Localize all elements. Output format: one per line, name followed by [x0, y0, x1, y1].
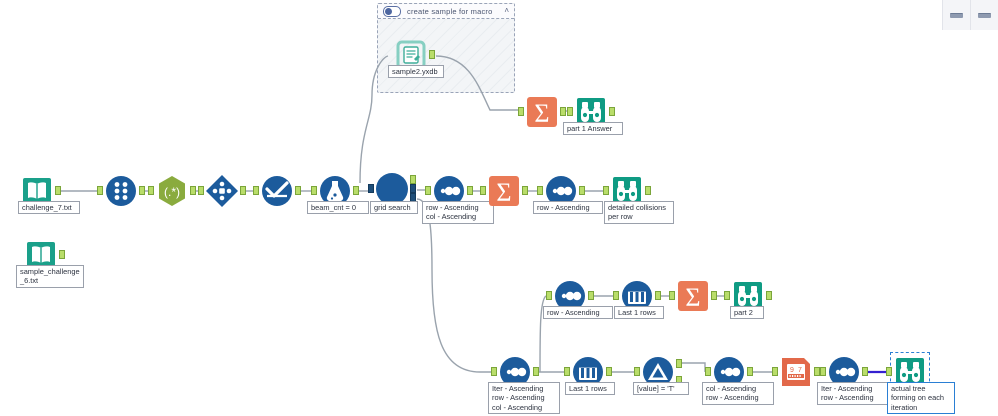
multi-row-formula-tool[interactable]	[104, 174, 138, 208]
tool-annotation-label[interactable]: Last 1 rows	[565, 382, 615, 395]
input-anchor[interactable]	[634, 367, 640, 376]
input-anchor[interactable]	[537, 186, 543, 195]
summarize-tool-main[interactable]: Σ	[487, 174, 521, 208]
output-anchor[interactable]	[609, 107, 615, 116]
tool-container-header[interactable]: create sample for macro ˄	[378, 4, 514, 19]
transpose-tool[interactable]	[205, 174, 239, 208]
input-anchor[interactable]	[311, 186, 317, 195]
chevron-up-icon[interactable]: ˄	[504, 7, 509, 15]
input-anchor[interactable]	[148, 186, 154, 195]
input-anchor[interactable]	[518, 107, 524, 116]
tool-annotation-label[interactable]: detailed collisions per row	[604, 201, 674, 224]
multi-row-formula-icon	[104, 174, 138, 208]
minimize-button[interactable]	[942, 0, 970, 30]
tool-annotation-label[interactable]: actual tree forming on each iteration	[887, 382, 955, 414]
output-anchor[interactable]	[353, 186, 359, 195]
svg-text:Σ: Σ	[496, 178, 511, 207]
output-anchor[interactable]	[55, 186, 61, 195]
window-controls[interactable]	[942, 0, 998, 46]
input-anchor[interactable]	[886, 367, 892, 376]
tool-annotation-label[interactable]: row - Ascending	[533, 201, 603, 214]
tool-annotation-label[interactable]: row - Ascending	[543, 306, 613, 319]
svg-text:Σ: Σ	[534, 99, 549, 128]
transpose-icon	[205, 174, 239, 208]
output-anchor[interactable]	[467, 186, 473, 195]
tool-annotation-label[interactable]: challenge_7.txt	[18, 201, 80, 214]
select-icon	[260, 174, 294, 208]
input-anchor[interactable]	[705, 367, 711, 376]
output-anchor[interactable]	[533, 367, 539, 376]
output-anchor[interactable]	[139, 186, 145, 195]
input-anchor[interactable]	[567, 107, 573, 116]
tool-annotation-label[interactable]: row - Ascending col - Ascending	[422, 201, 494, 224]
input-anchor[interactable]	[253, 186, 259, 195]
input-anchor[interactable]	[772, 367, 778, 376]
input-anchor[interactable]	[198, 186, 204, 195]
input-anchor[interactable]	[368, 184, 374, 193]
summarize-tool-part1[interactable]: Σ	[525, 95, 559, 129]
workflow-canvas[interactable]: create sample for macro ˄ challenge_7.tx…	[0, 0, 998, 416]
tool-annotation-label[interactable]: grid search	[370, 201, 418, 214]
input-anchor[interactable]	[97, 186, 103, 195]
tool-annotation-label[interactable]: Last 1 rows	[614, 306, 664, 319]
crosstab-tool[interactable]: 97	[779, 355, 813, 389]
input-anchor[interactable]	[724, 291, 730, 300]
input-anchor[interactable]	[491, 367, 497, 376]
tool-annotation-label[interactable]: sample_challenge _6.txt	[16, 265, 84, 288]
output-anchor[interactable]	[711, 291, 717, 300]
input-anchor[interactable]	[564, 367, 570, 376]
output-anchor[interactable]	[747, 367, 753, 376]
connection-wire[interactable]	[417, 199, 492, 372]
connection-wire[interactable]	[682, 363, 705, 372]
crosstab-icon: 97	[779, 355, 813, 389]
tool-container-title: create sample for macro	[407, 7, 492, 16]
tool-annotation-label[interactable]: part 2	[730, 306, 764, 319]
output-anchor[interactable]	[59, 250, 65, 259]
output-anchor[interactable]	[522, 186, 528, 195]
input-anchor[interactable]	[425, 186, 431, 195]
output-anchor[interactable]	[429, 50, 435, 59]
svg-text:Σ: Σ	[685, 283, 700, 312]
output-anchor[interactable]	[862, 367, 868, 376]
minimize-icon	[950, 13, 963, 18]
output-anchor[interactable]	[560, 107, 566, 116]
output-anchor[interactable]	[240, 186, 246, 195]
output-anchor[interactable]	[606, 367, 612, 376]
true-anchor[interactable]	[676, 359, 682, 368]
regex-icon: (.*)	[155, 174, 189, 208]
svg-text:9: 9	[790, 367, 794, 374]
summarize-icon: Σ	[525, 95, 559, 129]
tool-annotation-label[interactable]: col - Ascending row - Ascending	[702, 382, 774, 405]
tool-annotation-label[interactable]: Iter - Ascending row - Ascending	[817, 382, 889, 405]
input-anchor[interactable]	[613, 291, 619, 300]
summarize-icon: Σ	[676, 279, 710, 313]
input-anchor[interactable]	[820, 367, 826, 376]
input-anchor[interactable]	[669, 291, 675, 300]
tool-annotation-label[interactable]: Iter - Ascending row - Ascending col - A…	[488, 382, 560, 414]
tool-container-toggle[interactable]	[383, 6, 401, 17]
output-anchor[interactable]	[579, 186, 585, 195]
tool-annotation-label[interactable]: beam_cnt = 0	[307, 201, 369, 214]
tool-annotation-label[interactable]: [value] = 'T'	[633, 382, 689, 395]
output-anchor-2[interactable]	[410, 184, 416, 193]
output-anchor[interactable]	[645, 186, 651, 195]
input-anchor[interactable]	[546, 291, 552, 300]
output-anchor[interactable]	[655, 291, 661, 300]
regex-tool[interactable]: (.*)	[155, 174, 189, 208]
svg-text:7: 7	[798, 367, 802, 374]
summarize-icon: Σ	[487, 174, 521, 208]
svg-text:(.*): (.*)	[164, 185, 180, 199]
select-tool[interactable]	[260, 174, 294, 208]
output-anchor[interactable]	[190, 186, 196, 195]
input-anchor[interactable]	[603, 186, 609, 195]
restore-button[interactable]	[970, 0, 998, 30]
output-anchor-1[interactable]	[410, 175, 416, 184]
input-anchor[interactable]	[480, 186, 486, 195]
tool-annotation-label[interactable]: sample2.yxdb	[388, 65, 444, 78]
restore-icon	[978, 13, 991, 18]
output-anchor[interactable]	[588, 291, 594, 300]
tool-annotation-label[interactable]: part 1 Answer	[563, 122, 623, 135]
summarize-tool-part2[interactable]: Σ	[676, 279, 710, 313]
output-anchor[interactable]	[766, 291, 772, 300]
output-anchor[interactable]	[295, 186, 301, 195]
